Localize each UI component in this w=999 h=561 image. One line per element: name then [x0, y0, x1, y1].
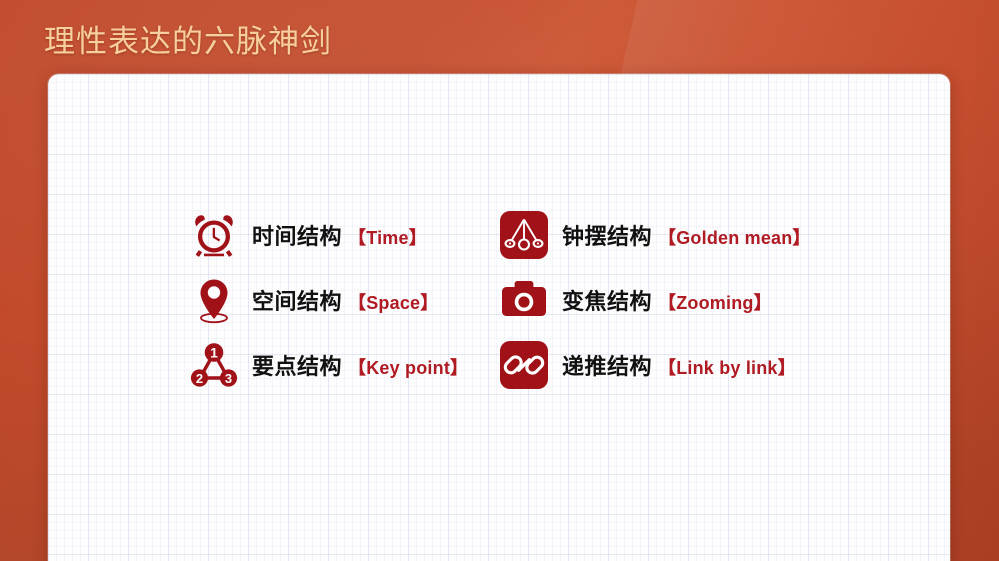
- structure-item-en-label: 【Space】: [348, 289, 438, 315]
- camera-icon: [498, 274, 550, 326]
- structure-item-key-point[interactable]: 1 2 3 要点结构 【Key point】: [188, 332, 488, 397]
- content-card: 时间结构 【Time】: [48, 74, 950, 561]
- svg-text:2: 2: [196, 370, 203, 385]
- svg-text:3: 3: [225, 370, 232, 385]
- structure-item-cn-label: 时间结构: [252, 219, 342, 251]
- structure-item-cn-label: 钟摆结构: [562, 219, 652, 251]
- structure-item-space[interactable]: 空间结构 【Space】: [188, 267, 488, 332]
- structure-item-cn-label: 要点结构: [252, 349, 342, 381]
- structure-item-en-label: 【Zooming】: [658, 289, 772, 315]
- structure-item-label: 钟摆结构 【Golden mean】: [562, 219, 811, 251]
- chain-link-icon: [498, 339, 550, 391]
- structure-item-cn-label: 递推结构: [562, 349, 652, 381]
- structure-item-en-label: 【Golden mean】: [658, 224, 811, 250]
- structure-item-label: 变焦结构 【Zooming】: [562, 284, 772, 316]
- structure-item-label: 时间结构 【Time】: [252, 219, 427, 251]
- structure-item-cn-label: 空间结构: [252, 284, 342, 316]
- structure-item-en-label: 【Key point】: [348, 354, 468, 380]
- structure-item-link-by-link[interactable]: 递推结构 【Link by link】: [498, 332, 898, 397]
- structure-item-zooming[interactable]: 变焦结构 【Zooming】: [498, 267, 898, 332]
- slide-root: 理性表达的六脉神剑: [0, 0, 999, 561]
- svg-text:1: 1: [210, 344, 218, 360]
- structure-item-en-label: 【Time】: [348, 224, 427, 250]
- structure-item-golden-mean[interactable]: 钟摆结构 【Golden mean】: [498, 202, 898, 267]
- structure-item-cn-label: 变焦结构: [562, 284, 652, 316]
- location-pin-icon: [188, 274, 240, 326]
- page-title: 理性表达的六脉神剑: [44, 22, 332, 62]
- structure-items-grid: 时间结构 【Time】: [188, 202, 888, 397]
- structure-item-en-label: 【Link by link】: [658, 354, 796, 380]
- alarm-clock-icon: [188, 209, 240, 261]
- structure-item-time[interactable]: 时间结构 【Time】: [188, 202, 488, 267]
- structure-item-label: 要点结构 【Key point】: [252, 349, 468, 381]
- key-point-triangle-icon: 1 2 3: [188, 339, 240, 391]
- structure-item-label: 空间结构 【Space】: [252, 284, 438, 316]
- balance-pendulum-icon: [498, 209, 550, 261]
- structure-item-label: 递推结构 【Link by link】: [562, 349, 796, 381]
